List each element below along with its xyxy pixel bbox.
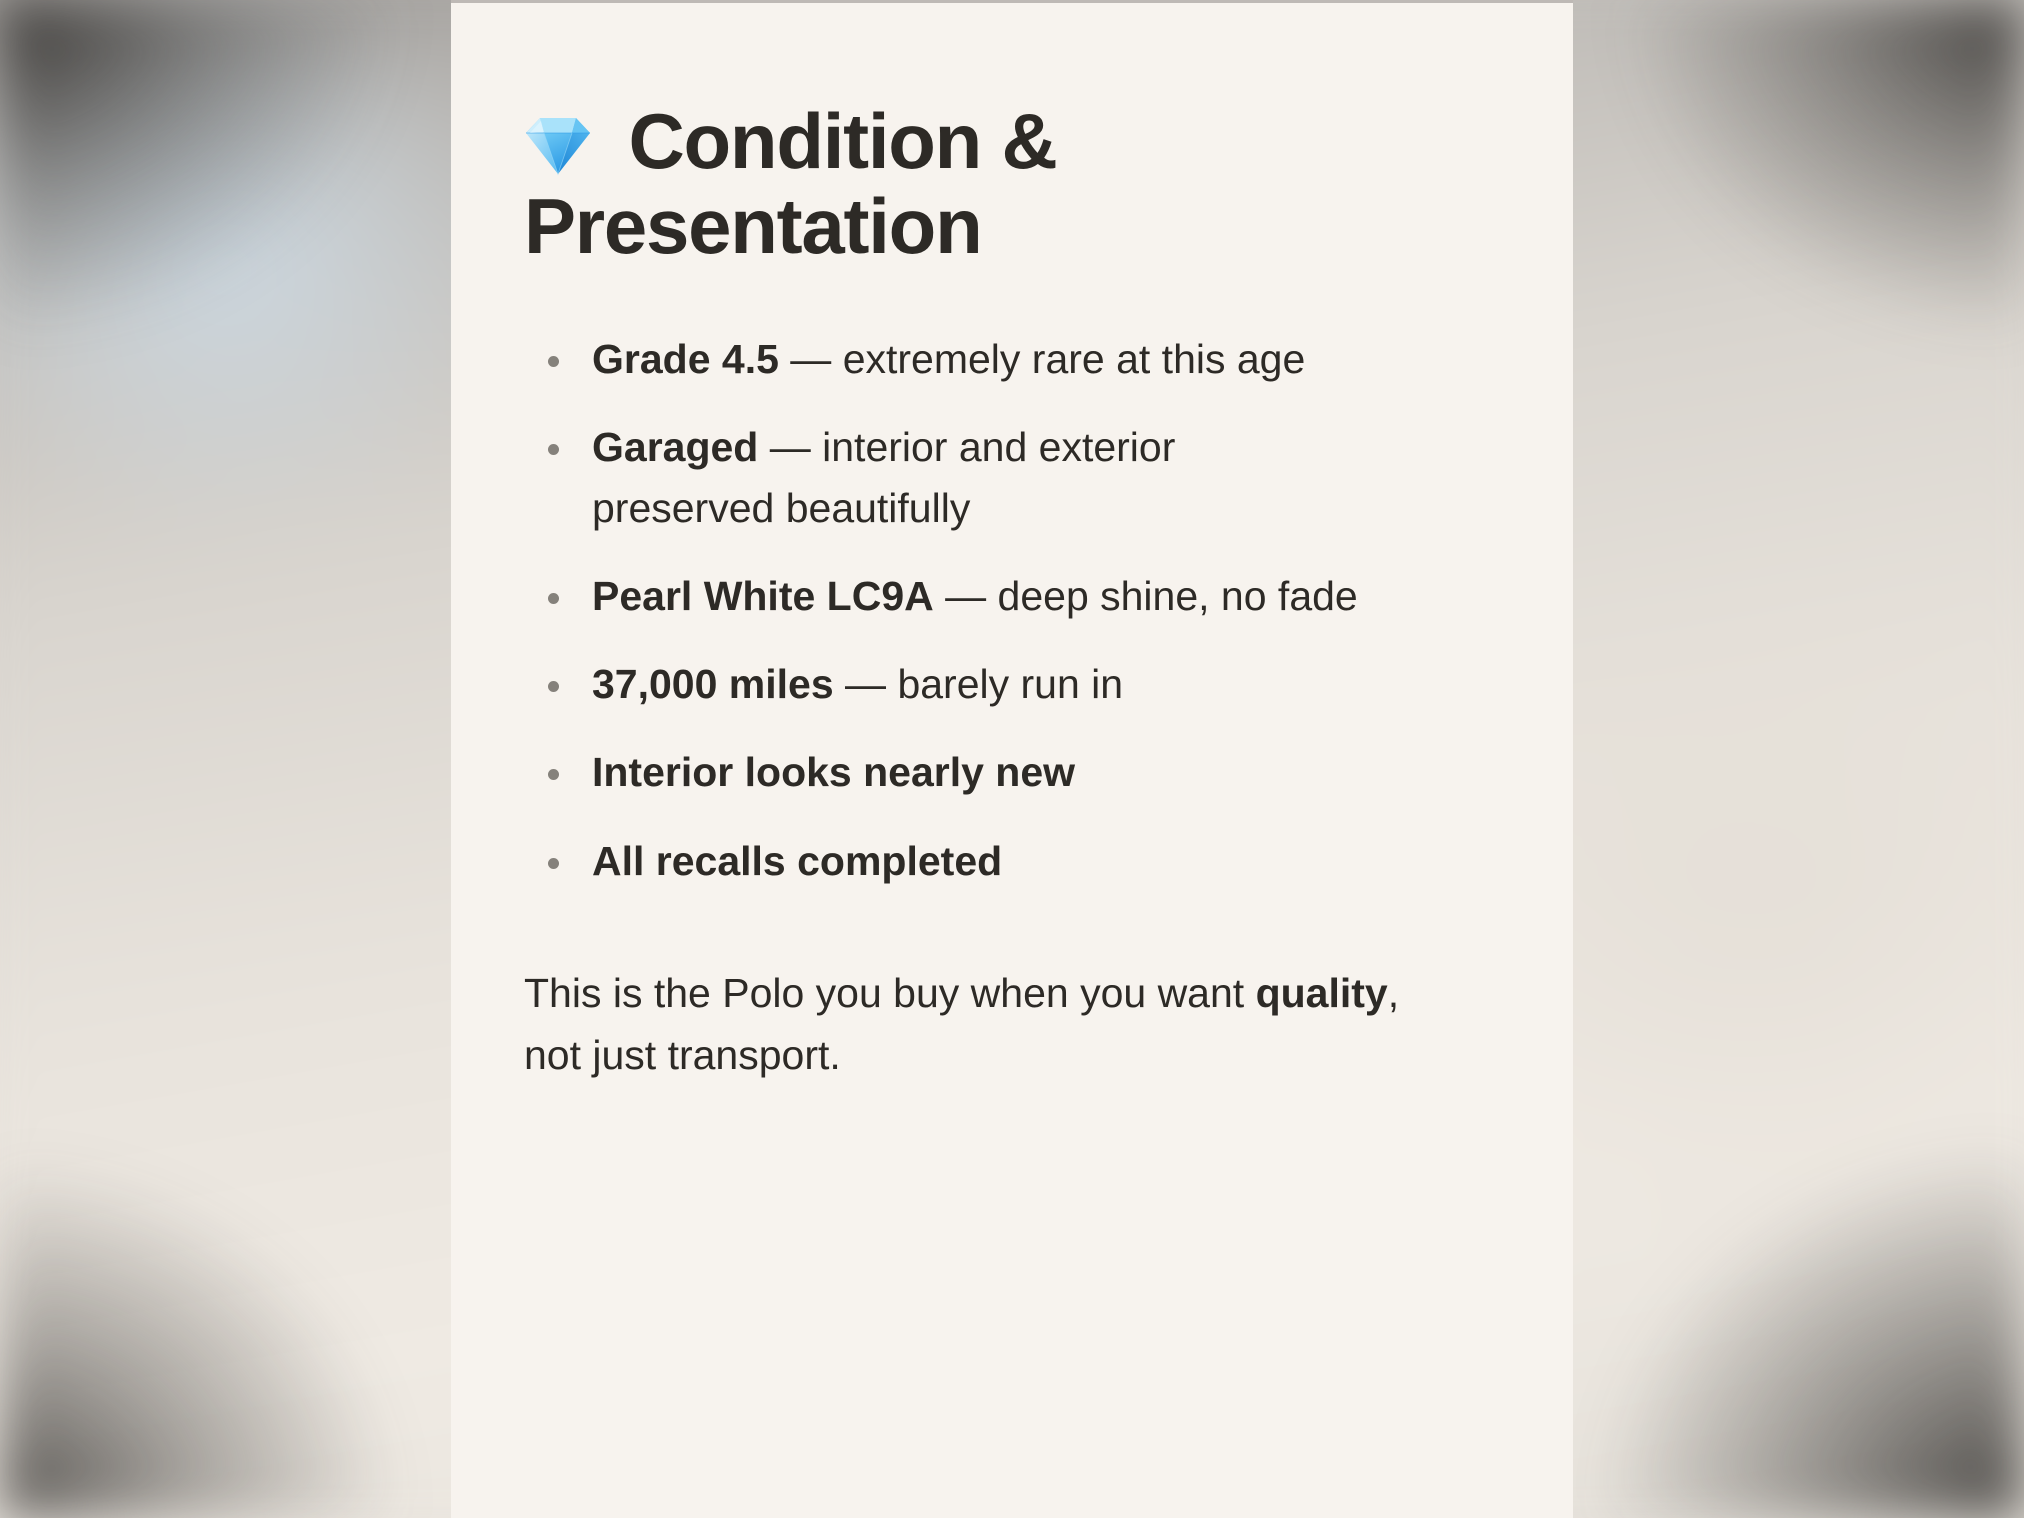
page-title: Condition & Presentation xyxy=(524,99,1503,269)
list-item-separator: — xyxy=(779,336,843,382)
list-item-rest: deep shine, no fade xyxy=(998,573,1358,619)
list-item-lead: Interior looks nearly new xyxy=(592,749,1075,795)
list-item: Pearl White LC9A — deep shine, no fade xyxy=(524,566,1364,627)
bullet-dot-icon xyxy=(548,858,559,869)
list-item-lead: Grade 4.5 xyxy=(592,336,779,382)
list-item: 37,000 miles — barely run in xyxy=(524,654,1364,715)
list-item-lead: Pearl White LC9A xyxy=(592,573,934,619)
bullet-dot-icon xyxy=(548,444,559,455)
list-item-lead: Garaged xyxy=(592,424,758,470)
list-item-lead: All recalls completed xyxy=(592,838,1002,884)
bullet-dot-icon xyxy=(548,593,559,604)
list-item-lead: 37,000 miles xyxy=(592,661,834,707)
gem-diamond-icon xyxy=(524,97,628,185)
list-item-separator: — xyxy=(758,424,822,470)
list-item: Grade 4.5 — extremely rare at this age xyxy=(524,329,1364,390)
closing-paragraph: This is the Polo you buy when you want q… xyxy=(524,962,1404,1087)
content-card: Condition & Presentation Grade 4.5 — ext… xyxy=(451,0,1573,1518)
condition-bullet-list: Grade 4.5 — extremely rare at this age G… xyxy=(524,329,1503,892)
bullet-dot-icon xyxy=(548,769,559,780)
closing-part-one: This is the Polo you buy when you want xyxy=(524,970,1256,1016)
list-item-rest: barely run in xyxy=(897,661,1123,707)
list-item-separator: — xyxy=(934,573,998,619)
closing-emphasis: quality xyxy=(1256,970,1388,1016)
list-item: Garaged — interior and exterior preserve… xyxy=(524,417,1364,539)
list-item: All recalls completed xyxy=(524,831,1364,892)
list-item: Interior looks nearly new xyxy=(524,742,1364,803)
bullet-dot-icon xyxy=(548,681,559,692)
list-item-separator: — xyxy=(834,661,898,707)
bullet-dot-icon xyxy=(548,356,559,367)
list-item-rest: extremely rare at this age xyxy=(843,336,1306,382)
